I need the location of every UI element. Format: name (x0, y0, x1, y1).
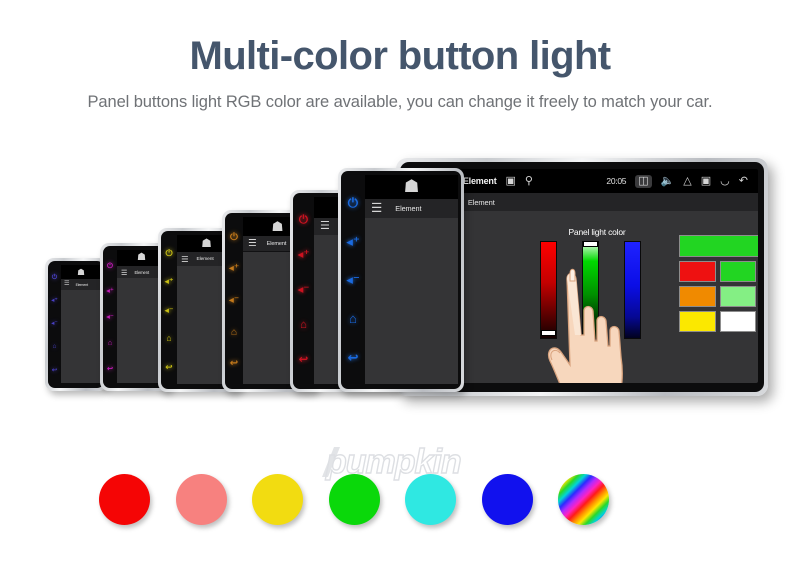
status-bar: ☗ (365, 175, 458, 199)
hamburger-menu-icon[interactable]: ☰ (320, 221, 330, 232)
dot-green[interactable] (329, 474, 380, 525)
swatch-grid (679, 235, 758, 336)
swatch-row (679, 286, 758, 307)
device-blue-screen: ☗ ☰ Element (365, 175, 458, 384)
content-area (365, 218, 458, 384)
volume-up-button[interactable]: ◂⁺ (51, 298, 58, 305)
app-bar-title: Element (197, 257, 214, 262)
device-blue-side-buttons: ⏻ ◂⁺ ◂⁻ ⌂ ↩ (341, 171, 365, 389)
status-bar-title: Element (463, 176, 497, 186)
power-button[interactable]: ⏻ (107, 262, 113, 270)
volume-up-button[interactable]: ◂⁺ (229, 264, 239, 274)
dual-screen-icon[interactable]: ◫ (635, 175, 651, 188)
device-yellow-side-buttons: ⏻ ◂⁺ ◂⁻ ⌂ ↩ (161, 231, 177, 389)
cloud-icon[interactable]: △ (683, 176, 691, 187)
swatch-light-green[interactable] (720, 286, 757, 307)
home-button[interactable]: ⌂ (108, 339, 113, 347)
home-button[interactable]: ⌂ (349, 312, 357, 325)
hamburger-menu-icon[interactable]: ☰ (181, 255, 189, 263)
app-bar-title: Element (267, 241, 287, 247)
hamburger-menu-icon[interactable]: ☰ (64, 281, 70, 287)
app-bar-title: Element (395, 204, 421, 213)
volume-up-button[interactable]: ◂⁺ (346, 235, 360, 248)
swatch-row (679, 261, 758, 282)
device-red-side-buttons: ⏻ ◂⁺ ◂⁻ ⌂ ↩ (293, 193, 314, 389)
screenshot-icon[interactable]: ▣ (701, 176, 711, 187)
power-button[interactable]: ⏻ (166, 249, 173, 258)
red-slider-thumb[interactable] (541, 330, 556, 336)
dot-rainbow[interactable] (558, 474, 609, 525)
app-bar: ☰ Element (365, 199, 458, 218)
volume-down-button[interactable]: ◂⁻ (346, 273, 360, 286)
color-preview-bar (679, 235, 758, 257)
device-stage: ⏻ ◂⁺ ◂⁻ ⌂ ↩ ☗ ☰ Element ⏻ ◂⁺ ◂⁻ (0, 140, 800, 440)
swatch-orange[interactable] (679, 286, 716, 307)
rgb-slider-group (540, 241, 655, 339)
picker-content: Panel light color (434, 211, 758, 383)
volume-down-button[interactable]: ◂⁻ (51, 321, 58, 328)
hamburger-menu-icon[interactable]: ☰ (121, 269, 127, 276)
volume-down-button[interactable]: ◂⁻ (229, 296, 239, 306)
power-button[interactable]: ⏻ (299, 215, 308, 227)
swatch-white[interactable] (720, 311, 757, 332)
swatch-rows (679, 261, 758, 332)
back-button[interactable]: ↩ (107, 365, 113, 373)
status-bar: ☗ Element ▣ ⚲ 20:05 ◫ 🔈 △ ▣ ◡ ↶ (434, 169, 758, 193)
hamburger-menu-icon[interactable]: ☰ (248, 239, 257, 249)
swatch-yellow[interactable] (679, 311, 716, 332)
front-device-screen: ☗ Element ▣ ⚲ 20:05 ◫ 🔈 △ ▣ ◡ ↶ (434, 169, 758, 383)
volume-up-button[interactable]: ◂⁺ (164, 277, 173, 286)
dot-red[interactable] (99, 474, 150, 525)
dot-cyan[interactable] (405, 474, 456, 525)
app-bar-title: Element (76, 283, 88, 287)
blue-slider[interactable] (624, 241, 641, 339)
dot-blue[interactable] (482, 474, 533, 525)
device-blue[interactable]: ⏻ ◂⁺ ◂⁻ ⌂ ↩ ☗ ☰ Element (338, 168, 464, 392)
green-slider[interactable] (582, 241, 599, 339)
green-slider-thumb[interactable] (583, 241, 598, 247)
power-button[interactable]: ⏻ (230, 233, 238, 243)
home-button[interactable]: ⌂ (53, 344, 57, 351)
back-button[interactable]: ↩ (165, 363, 172, 372)
location-pin-icon[interactable]: ⚲ (525, 176, 533, 187)
content-area (61, 290, 101, 383)
status-bar-clock: 20:05 (606, 176, 626, 186)
page-root: Multi-color button light Panel buttons l… (0, 0, 800, 563)
red-slider[interactable] (540, 241, 557, 339)
home-icon[interactable]: ☗ (404, 178, 420, 196)
home-icon[interactable]: ☗ (201, 238, 212, 250)
header: Multi-color button light Panel buttons l… (0, 0, 800, 112)
app-bar: ☰ Element (434, 193, 758, 211)
device-indigo-body: ⏻ ◂⁺ ◂⁻ ⌂ ↩ ☗ ☰ Element (48, 261, 104, 388)
app-bar: ☰ Element (61, 279, 101, 290)
link-icon[interactable]: ◡ (720, 176, 730, 187)
swatch-row (679, 311, 758, 332)
panel-light-color-label: Panel light color (532, 227, 662, 237)
app-bar-title: Element (468, 198, 495, 207)
home-button[interactable]: ⌂ (300, 320, 307, 332)
device-blue-body: ⏻ ◂⁺ ◂⁻ ⌂ ↩ ☗ ☰ Element (341, 171, 461, 389)
volume-up-button[interactable]: ◂⁺ (106, 287, 114, 295)
status-bar: ☗ (61, 265, 101, 279)
home-button[interactable]: ⌂ (231, 328, 237, 338)
home-button[interactable]: ⌂ (166, 334, 171, 343)
volume-down-button[interactable]: ◂⁻ (298, 285, 310, 297)
color-dot-row (0, 466, 800, 540)
back-button[interactable]: ↩ (347, 351, 358, 364)
device-indigo-side-buttons: ⏻ ◂⁺ ◂⁻ ⌂ ↩ (48, 261, 61, 388)
back-button[interactable]: ↩ (52, 368, 57, 375)
dot-pink[interactable] (176, 474, 227, 525)
volume-up-button[interactable]: ◂⁺ (298, 250, 310, 262)
device-orange-side-buttons: ⏻ ◂⁺ ◂⁻ ⌂ ↩ (225, 213, 243, 389)
swatch-red[interactable] (679, 261, 716, 282)
sd-card-icon[interactable]: ▣ (506, 176, 516, 187)
swatch-green[interactable] (720, 261, 757, 282)
device-indigo[interactable]: ⏻ ◂⁺ ◂⁻ ⌂ ↩ ☗ ☰ Element (45, 258, 107, 391)
volume-down-button[interactable]: ◂⁻ (164, 306, 173, 315)
device-indigo-screen: ☗ ☰ Element (61, 265, 101, 383)
power-button[interactable]: ⏻ (348, 196, 358, 209)
back-button[interactable]: ↩ (230, 359, 238, 369)
volume-down-button[interactable]: ◂⁻ (106, 313, 114, 321)
power-button[interactable]: ⏻ (52, 275, 57, 282)
dot-yellow[interactable] (252, 474, 303, 525)
home-icon[interactable]: ☗ (271, 220, 283, 233)
home-icon[interactable]: ☗ (77, 268, 85, 277)
app-bar-title: Element (134, 270, 149, 275)
home-icon[interactable]: ☗ (137, 253, 146, 263)
device-magenta-side-buttons: ⏻ ◂⁺ ◂⁻ ⌂ ↩ (103, 246, 117, 388)
page-subtitle: Panel buttons light RGB color are availa… (0, 78, 800, 112)
panel-light-color-picker: Panel light color (434, 211, 758, 383)
back-button[interactable]: ↩ (299, 355, 309, 367)
page-title: Multi-color button light (0, 0, 800, 78)
hamburger-menu-icon[interactable]: ☰ (371, 202, 382, 215)
back-icon[interactable]: ↶ (739, 176, 748, 187)
volume-icon[interactable]: 🔈 (661, 176, 675, 187)
